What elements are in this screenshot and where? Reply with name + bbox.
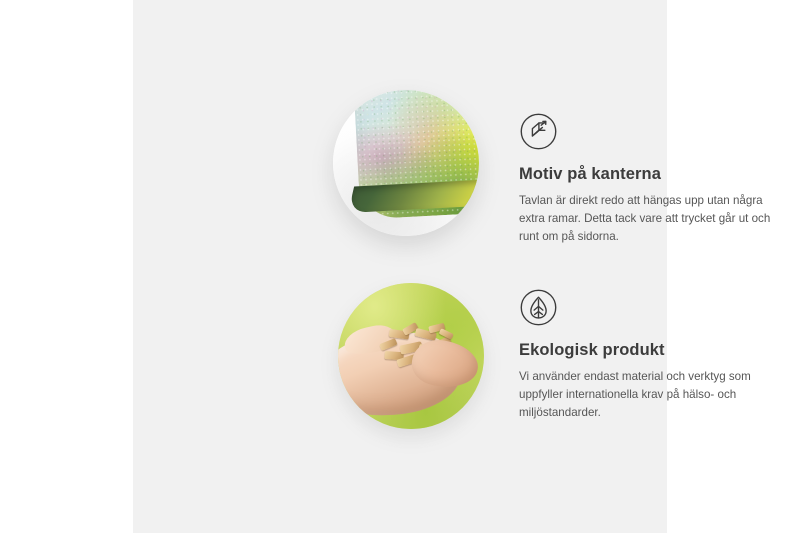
leaf-icon	[519, 288, 558, 327]
feature-title: Ekologisk produkt	[519, 341, 791, 361]
content-panel: Motiv på kanterna Tavlan är direkt redo …	[133, 0, 667, 533]
product-feature-infographic: Motiv på kanterna Tavlan är direkt redo …	[0, 0, 800, 533]
wood-chips-in-hands-photo	[338, 283, 484, 429]
feature-description: Tavlan är direkt redo att hängas upp uta…	[519, 192, 791, 246]
wrapped-canvas-edge-icon	[519, 112, 558, 151]
feature-description: Vi använder endast material och verktyg …	[519, 368, 791, 422]
feature-title: Motiv på kanterna	[519, 165, 791, 185]
canvas-edge-photo	[333, 90, 479, 236]
feature-block-eco-product: Ekologisk produkt Vi använder endast mat…	[519, 288, 791, 422]
feature-block-printed-edges: Motiv på kanterna Tavlan är direkt redo …	[519, 112, 791, 246]
